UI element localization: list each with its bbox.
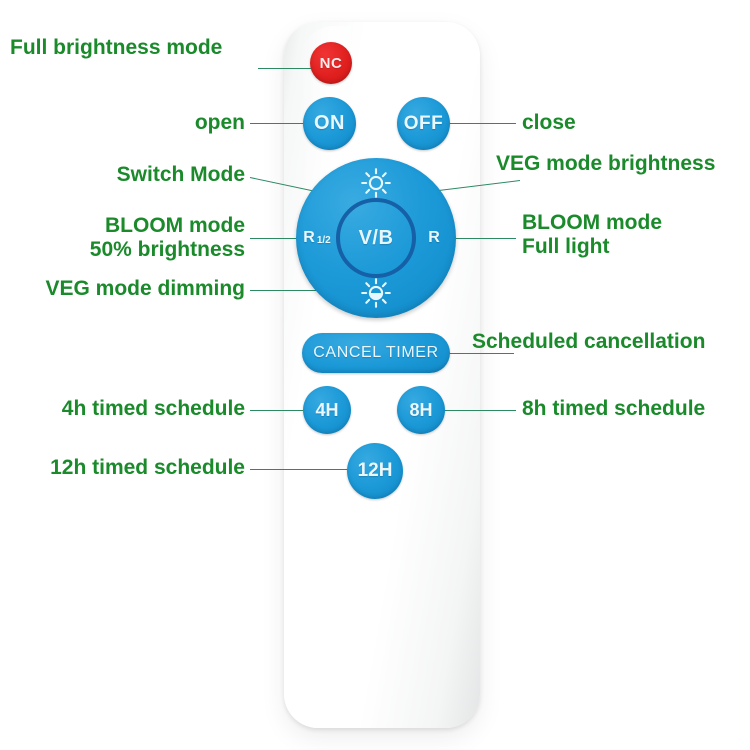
sun-full-icon[interactable] [358, 165, 394, 201]
callout-veg-mode-dimming: VEG mode dimming [0, 277, 245, 301]
mode-dial[interactable]: R1/2 V/B R [296, 158, 456, 318]
leader-line-12h [250, 469, 358, 470]
timer-4h-button[interactable]: 4H [303, 386, 351, 434]
nc-button[interactable]: NC [310, 42, 352, 84]
cancel-timer-button[interactable]: CANCEL TIMER [302, 333, 450, 373]
timer-12h-button-label: 12H [358, 460, 393, 482]
remote-diagram: NC ON OFF R1/2 [0, 0, 750, 750]
off-button[interactable]: OFF [397, 97, 450, 150]
dial-left-fraction: 1/2 [317, 235, 331, 246]
callout-open: open [60, 111, 245, 135]
callout-8h-timed-schedule: 8h timed schedule [522, 397, 747, 421]
callout-bloom-mode-50: BLOOM mode 50% brightness [20, 214, 245, 261]
sun-half-icon[interactable] [358, 275, 394, 311]
callout-scheduled-cancellation: Scheduled cancellation [472, 330, 748, 354]
timer-8h-button-label: 8H [409, 400, 432, 421]
callout-switch-mode: Switch Mode [60, 163, 245, 187]
nc-button-label: NC [320, 55, 343, 72]
on-button-label: ON [314, 112, 345, 135]
leader-line-close [448, 123, 516, 124]
cancel-timer-button-label: CANCEL TIMER [313, 344, 438, 362]
timer-8h-button[interactable]: 8H [397, 386, 445, 434]
timer-12h-button[interactable]: 12H [347, 443, 403, 499]
dial-bloom-full-label[interactable]: R [414, 222, 454, 254]
dial-bloom-half-label[interactable]: R1/2 [297, 222, 337, 254]
callout-bloom-mode-full-light: BLOOM mode Full light [522, 211, 747, 258]
callout-veg-mode-brightness: VEG mode brightness [496, 152, 748, 176]
dial-center-label: V/B [359, 227, 394, 250]
dial-center-button[interactable]: V/B [336, 198, 416, 278]
leader-line-full-brightness [258, 68, 318, 69]
leader-line-8h [444, 410, 516, 411]
off-button-label: OFF [404, 113, 444, 135]
callout-4h-timed-schedule: 4h timed schedule [10, 397, 245, 421]
callout-full-brightness-mode: Full brightness mode [10, 36, 258, 60]
dial-right-letter: R [428, 229, 440, 247]
leader-line-bloom-full [452, 238, 516, 239]
dial-left-letter: R [303, 229, 315, 247]
callout-12h-timed-schedule: 12h timed schedule [0, 456, 245, 480]
leader-line-4h [250, 410, 308, 411]
timer-4h-button-label: 4H [315, 400, 338, 421]
callout-close: close [522, 111, 747, 135]
on-button[interactable]: ON [303, 97, 356, 150]
leader-line-open [250, 123, 308, 124]
